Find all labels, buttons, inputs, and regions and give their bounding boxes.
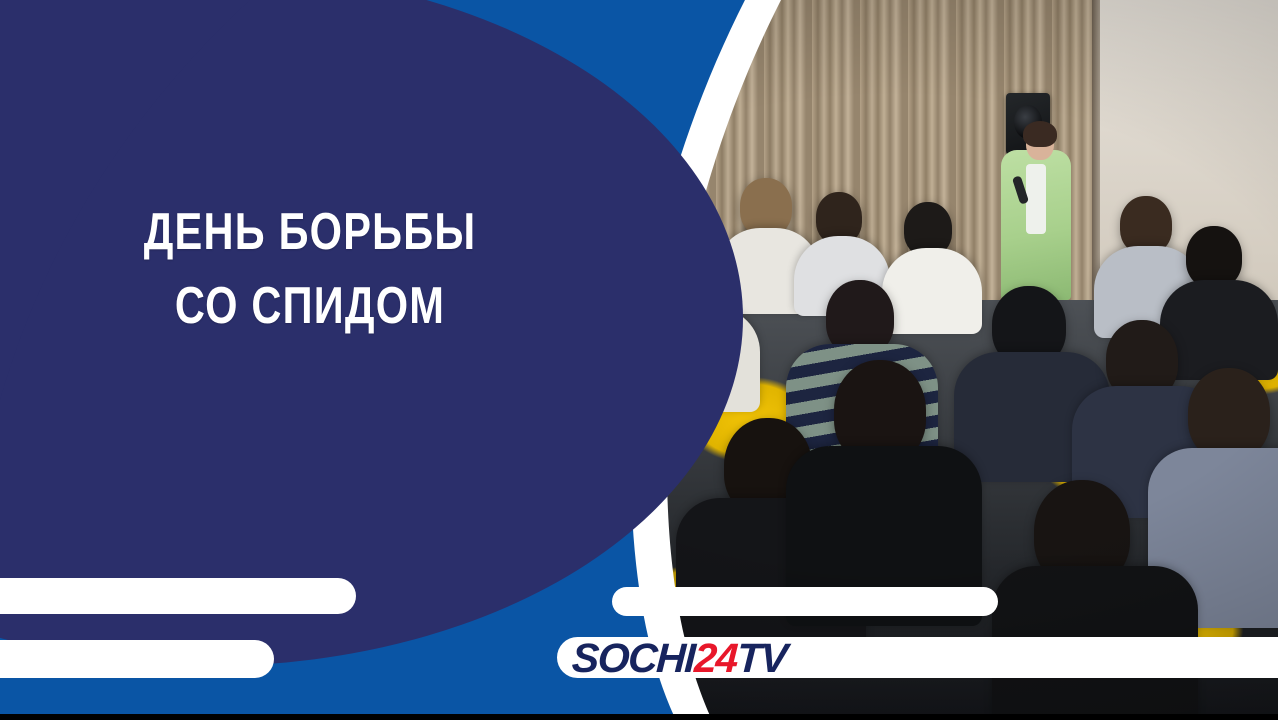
logo-word-24: 24: [693, 638, 738, 679]
decor-bar-bottom-left: [0, 640, 274, 678]
logo-word-tv: TV: [736, 638, 788, 679]
headline-text: ДЕНЬ БОРЬБЫ СО СПИДОМ: [62, 196, 558, 344]
sochi24tv-logo[interactable]: SOCHI24TV: [571, 634, 788, 682]
bottom-letterbox: [0, 714, 1278, 720]
decor-bar-middle: [612, 587, 998, 616]
video-thumbnail: ДЕНЬ БОРЬБЫ СО СПИДОМ SOCHI24TV: [0, 0, 1278, 720]
logo-word-sochi: SOCHI: [571, 638, 696, 679]
decor-bar-top-left: [0, 578, 356, 614]
